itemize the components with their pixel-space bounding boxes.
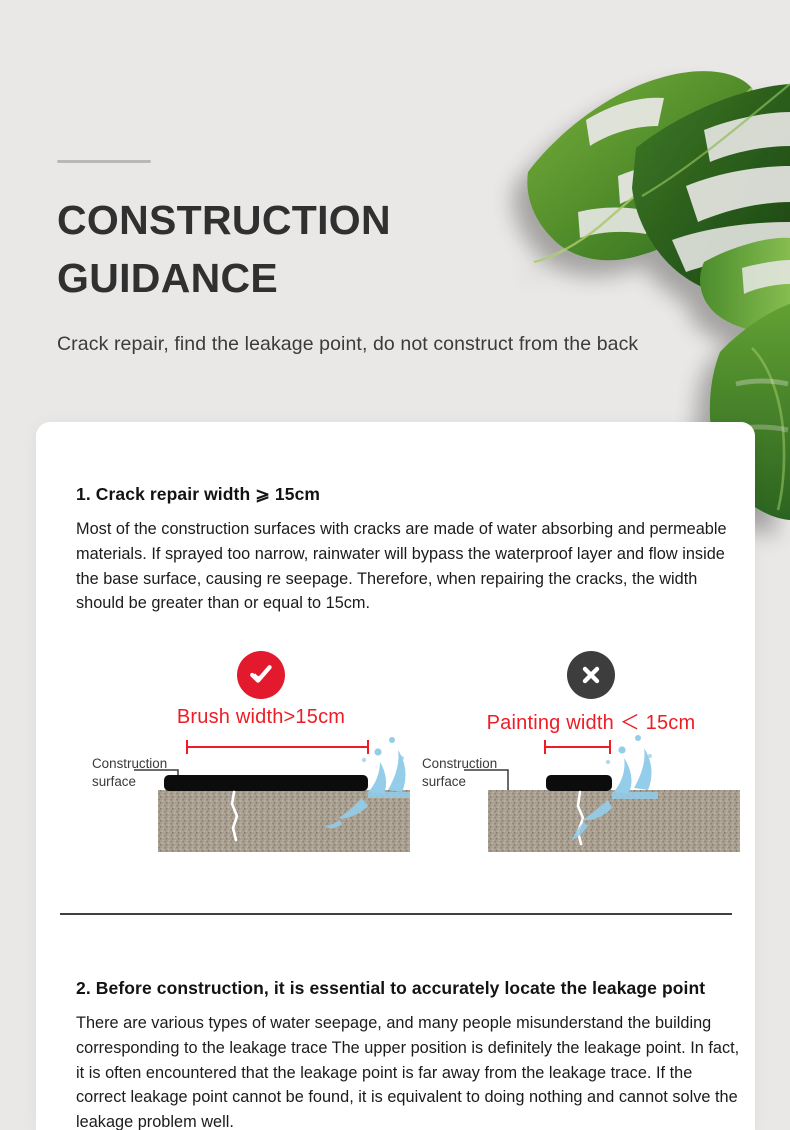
section-2-body: There are various types of water seepage… [76,1011,741,1130]
section-2-heading: 2. Before construction, it is essential … [76,978,752,999]
page-subtitle: Crack repair, find the leakage point, do… [57,333,717,356]
surface-leader-line-incorrect [464,770,508,790]
comparison-figures: Brush width>15cm Construction surface [76,642,733,872]
section-divider [60,913,732,915]
section-crack-repair-width: 1. Crack repair width ⩾ 15cm Most of the… [76,484,733,616]
section-1-heading: 1. Crack repair width ⩾ 15cm [76,484,733,505]
page-header: CONSTRUCTION GUIDANCE Crack repair, find… [57,160,717,356]
section-1-body: Most of the construction surfaces with c… [76,517,733,616]
page-title-line-2: GUIDANCE [57,255,278,301]
concrete-slab-correct [158,790,410,852]
concrete-slab-incorrect [488,790,740,852]
title-accent-dash [57,160,151,163]
diagram-correct [92,642,430,872]
coating-bar-correct [164,775,368,791]
figure-incorrect-width: Painting width ＜ 15cm Construction surfa… [422,642,760,872]
page-title: CONSTRUCTION GUIDANCE [57,191,457,307]
diagram-incorrect [422,642,760,872]
section-locate-leakage-point: 2. Before construction, it is essential … [76,978,752,1130]
page-title-line-1: CONSTRUCTION [57,197,391,243]
coating-bar-incorrect [546,775,612,791]
figure-correct-width: Brush width>15cm Construction surface [92,642,430,872]
